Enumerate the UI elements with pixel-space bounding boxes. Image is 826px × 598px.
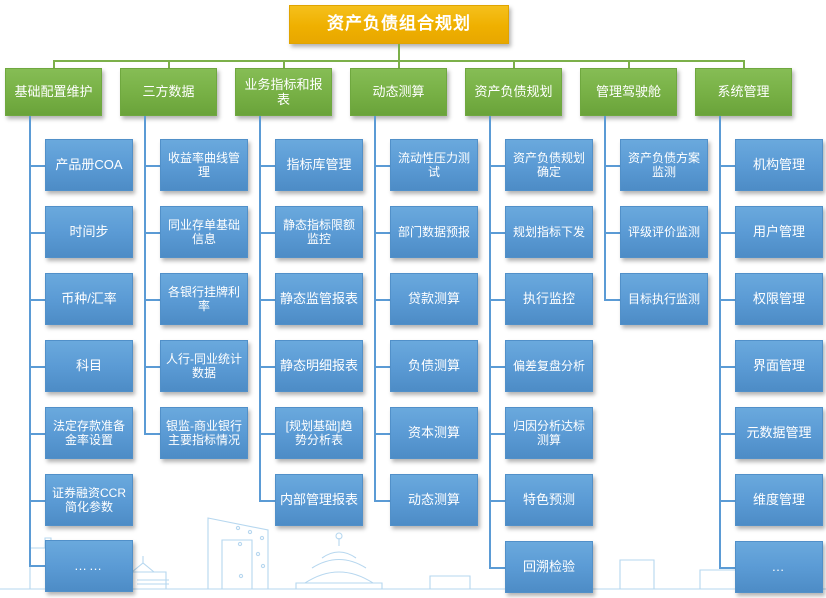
column-stub-4-1 xyxy=(374,165,390,167)
leaf-4-6-label: 动态测算 xyxy=(408,492,460,507)
column-header-7-label: 系统管理 xyxy=(717,84,769,99)
leaf-5-4-label: 偏差复盘分析 xyxy=(513,359,585,373)
column-stub-5-1 xyxy=(489,165,505,167)
connector-header-drop-2 xyxy=(168,60,170,68)
leaf-5-7-label: 回溯检验 xyxy=(523,559,575,574)
leaf-3-5-label: [规划基础]趋势分析表 xyxy=(280,419,358,447)
leaf-1-5[interactable]: 法定存款准备金率设置 xyxy=(45,407,133,459)
leaf-4-2[interactable]: 部门数据预报 xyxy=(390,206,478,258)
column-stub-5-4 xyxy=(489,366,505,368)
column-stub-5-5 xyxy=(489,433,505,435)
leaf-7-2-label: 用户管理 xyxy=(753,224,805,239)
connector-header-drop-6 xyxy=(628,60,630,68)
leaf-4-1[interactable]: 流动性压力测试 xyxy=(390,139,478,191)
leaf-4-4[interactable]: 负债测算 xyxy=(390,340,478,392)
column-stub-7-1 xyxy=(719,165,735,167)
connector-header-drop-5 xyxy=(513,60,515,68)
leaf-4-4-label: 负债测算 xyxy=(408,358,460,373)
leaf-1-7-label: …… xyxy=(74,558,104,573)
column-spine-2 xyxy=(144,116,146,434)
column-header-4-label: 动态测算 xyxy=(372,84,424,99)
connector-header-drop-1 xyxy=(53,60,55,68)
column-stub-7-2 xyxy=(719,232,735,234)
column-stub-3-6 xyxy=(259,500,275,502)
column-stub-4-2 xyxy=(374,232,390,234)
leaf-7-2[interactable]: 用户管理 xyxy=(735,206,823,258)
column-spine-1 xyxy=(29,116,31,566)
leaf-5-5-label: 归因分析达标测算 xyxy=(510,419,588,447)
column-spine-3 xyxy=(259,116,261,501)
column-stub-4-6 xyxy=(374,500,390,502)
column-stub-4-3 xyxy=(374,299,390,301)
column-stub-6-1 xyxy=(604,165,620,167)
column-header-4[interactable]: 动态测算 xyxy=(350,68,447,116)
column-header-6-label: 管理驾驶舱 xyxy=(596,84,661,99)
leaf-6-3[interactable]: 目标执行监测 xyxy=(620,273,708,325)
leaf-3-6[interactable]: 内部管理报表 xyxy=(275,474,363,526)
leaf-6-1-label: 资产负债方案监测 xyxy=(625,151,703,179)
leaf-7-1-label: 机构管理 xyxy=(753,157,805,172)
leaf-5-3-label: 执行监控 xyxy=(523,291,575,306)
leaf-6-3-label: 目标执行监测 xyxy=(628,292,700,306)
leaf-1-6-label: 证券融资CCR简化参数 xyxy=(50,486,128,514)
leaf-4-3-label: 贷款测算 xyxy=(408,291,460,306)
column-stub-3-3 xyxy=(259,299,275,301)
leaf-5-2-label: 规划指标下发 xyxy=(513,225,585,239)
leaf-4-2-label: 部门数据预报 xyxy=(398,225,470,239)
column-stub-7-7 xyxy=(719,567,735,569)
column-header-1-label: 基础配置维护 xyxy=(14,84,92,99)
leaf-7-7-label: … xyxy=(772,559,787,574)
column-stub-1-5 xyxy=(29,433,45,435)
column-stub-5-2 xyxy=(489,232,505,234)
leaf-3-5[interactable]: [规划基础]趋势分析表 xyxy=(275,407,363,459)
leaf-4-6[interactable]: 动态测算 xyxy=(390,474,478,526)
leaf-1-5-label: 法定存款准备金率设置 xyxy=(50,419,128,447)
leaf-5-3[interactable]: 执行监控 xyxy=(505,273,593,325)
connector-header-drop-7 xyxy=(743,60,745,68)
connector-header-drop-4 xyxy=(398,60,400,68)
leaf-5-1[interactable]: 资产负债规划确定 xyxy=(505,139,593,191)
leaf-5-2[interactable]: 规划指标下发 xyxy=(505,206,593,258)
column-stub-7-3 xyxy=(719,299,735,301)
leaf-7-5-label: 元数据管理 xyxy=(746,425,811,440)
leaf-7-1[interactable]: 机构管理 xyxy=(735,139,823,191)
column-stub-4-4 xyxy=(374,366,390,368)
leaf-2-2-label: 同业存单基础信息 xyxy=(165,218,243,246)
column-stub-3-2 xyxy=(259,232,275,234)
leaf-2-4-label: 人行-同业统计数据 xyxy=(165,352,243,380)
column-stub-1-6 xyxy=(29,500,45,502)
leaf-7-4[interactable]: 界面管理 xyxy=(735,340,823,392)
leaf-2-3-label: 各银行挂牌利率 xyxy=(165,285,243,313)
leaf-7-6-label: 维度管理 xyxy=(753,492,805,507)
leaf-1-2-label: 时间步 xyxy=(69,224,108,239)
column-stub-1-3 xyxy=(29,299,45,301)
leaf-7-5[interactable]: 元数据管理 xyxy=(735,407,823,459)
leaf-4-5[interactable]: 资本测算 xyxy=(390,407,478,459)
leaf-5-6[interactable]: 特色预测 xyxy=(505,474,593,526)
column-stub-6-3 xyxy=(604,299,620,301)
column-stub-4-5 xyxy=(374,433,390,435)
column-stub-7-5 xyxy=(719,433,735,435)
column-stub-1-1 xyxy=(29,165,45,167)
leaf-7-4-label: 界面管理 xyxy=(753,358,805,373)
leaf-3-4[interactable]: 静态明细报表 xyxy=(275,340,363,392)
column-stub-7-6 xyxy=(719,500,735,502)
column-stub-3-1 xyxy=(259,165,275,167)
diagram-title-text: 资产负债组合规划 xyxy=(327,14,471,34)
column-stub-5-6 xyxy=(489,500,505,502)
leaf-3-3-label: 静态监管报表 xyxy=(280,291,358,306)
column-stub-2-1 xyxy=(144,165,160,167)
leaf-5-4[interactable]: 偏差复盘分析 xyxy=(505,340,593,392)
leaf-6-2-label: 评级评价监测 xyxy=(628,225,700,239)
leaf-7-3-label: 权限管理 xyxy=(753,291,805,306)
org-chart-diagram: 资产负债组合规划 基础配置维护 三方数据 业务指标和报表 动态测算 资产负债规划… xyxy=(0,0,826,598)
column-stub-5-3 xyxy=(489,299,505,301)
column-stub-7-4 xyxy=(719,366,735,368)
leaf-3-1[interactable]: 指标库管理 xyxy=(275,139,363,191)
leaf-1-3-label: 币种/汇率 xyxy=(61,291,117,306)
diagram-title-box: 资产负债组合规划 xyxy=(289,5,509,44)
column-stub-3-4 xyxy=(259,366,275,368)
leaf-1-7[interactable]: …… xyxy=(45,540,133,592)
leaf-3-2-label: 静态指标限额监控 xyxy=(280,218,358,246)
leaf-1-4[interactable]: 科目 xyxy=(45,340,133,392)
leaf-5-1-label: 资产负债规划确定 xyxy=(510,151,588,179)
leaf-2-3[interactable]: 各银行挂牌利率 xyxy=(160,273,248,325)
column-header-5-label: 资产负债规划 xyxy=(474,84,552,99)
leaf-1-1-label: 产品册COA xyxy=(55,157,122,172)
leaf-3-1-label: 指标库管理 xyxy=(286,157,351,172)
leaf-5-6-label: 特色预测 xyxy=(523,492,575,507)
leaf-3-4-label: 静态明细报表 xyxy=(280,358,358,373)
column-stub-1-2 xyxy=(29,232,45,234)
leaf-2-5-label: 银监-商业银行主要指标情况 xyxy=(165,419,243,447)
leaf-7-6[interactable]: 维度管理 xyxy=(735,474,823,526)
column-stub-2-4 xyxy=(144,366,160,368)
leaf-2-4[interactable]: 人行-同业统计数据 xyxy=(160,340,248,392)
leaf-1-4-label: 科目 xyxy=(76,358,102,373)
leaf-3-2[interactable]: 静态指标限额监控 xyxy=(275,206,363,258)
column-stub-5-7 xyxy=(489,567,505,569)
connector-title-stem xyxy=(398,44,400,61)
leaf-1-6[interactable]: 证券融资CCR简化参数 xyxy=(45,474,133,526)
leaf-6-2[interactable]: 评级评价监测 xyxy=(620,206,708,258)
leaf-4-1-label: 流动性压力测试 xyxy=(395,151,473,179)
column-header-3-label: 业务指标和报表 xyxy=(240,77,327,108)
leaf-5-7[interactable]: 回溯检验 xyxy=(505,541,593,593)
column-stub-1-7 xyxy=(29,565,45,567)
column-stub-2-2 xyxy=(144,232,160,234)
leaf-3-3[interactable]: 静态监管报表 xyxy=(275,273,363,325)
column-header-5[interactable]: 资产负债规划 xyxy=(465,68,562,116)
leaf-2-1-label: 收益率曲线管理 xyxy=(165,151,243,179)
column-header-2[interactable]: 三方数据 xyxy=(120,68,217,116)
column-header-7[interactable]: 系统管理 xyxy=(695,68,792,116)
leaf-4-5-label: 资本测算 xyxy=(408,425,460,440)
leaf-2-2[interactable]: 同业存单基础信息 xyxy=(160,206,248,258)
leaf-7-3[interactable]: 权限管理 xyxy=(735,273,823,325)
leaf-7-7[interactable]: … xyxy=(735,541,823,593)
leaf-1-2[interactable]: 时间步 xyxy=(45,206,133,258)
leaf-1-3[interactable]: 币种/汇率 xyxy=(45,273,133,325)
column-stub-2-5 xyxy=(144,433,160,435)
leaf-2-1[interactable]: 收益率曲线管理 xyxy=(160,139,248,191)
column-stub-6-2 xyxy=(604,232,620,234)
column-header-6[interactable]: 管理驾驶舱 xyxy=(580,68,677,116)
leaf-2-5[interactable]: 银监-商业银行主要指标情况 xyxy=(160,407,248,459)
column-stub-3-5 xyxy=(259,433,275,435)
leaf-4-3[interactable]: 贷款测算 xyxy=(390,273,478,325)
column-spine-4 xyxy=(374,116,376,501)
leaf-6-1[interactable]: 资产负债方案监测 xyxy=(620,139,708,191)
connector-header-drop-3 xyxy=(283,60,285,68)
column-spine-6 xyxy=(604,116,606,300)
column-header-2-label: 三方数据 xyxy=(142,84,194,99)
column-stub-1-4 xyxy=(29,366,45,368)
column-stub-2-3 xyxy=(144,299,160,301)
leaf-1-1[interactable]: 产品册COA xyxy=(45,139,133,191)
leaf-5-5[interactable]: 归因分析达标测算 xyxy=(505,407,593,459)
column-header-3[interactable]: 业务指标和报表 xyxy=(235,68,332,116)
column-header-1[interactable]: 基础配置维护 xyxy=(5,68,102,116)
leaf-3-6-label: 内部管理报表 xyxy=(280,492,358,507)
